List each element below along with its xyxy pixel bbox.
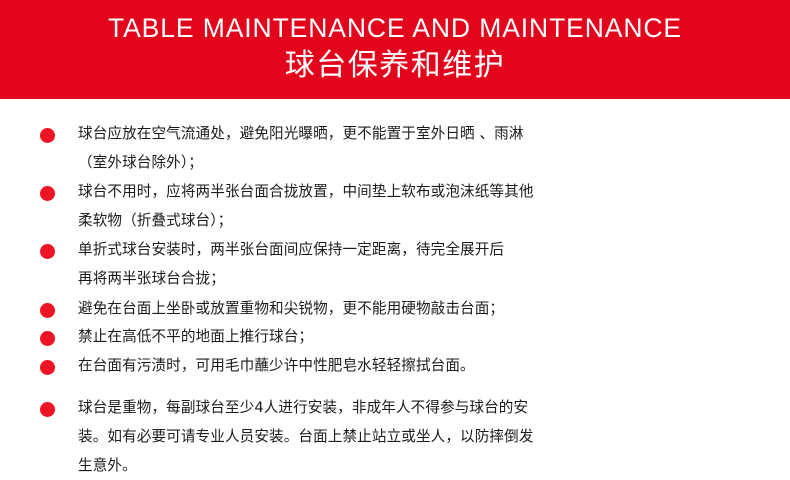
page-title-chinese: 球台保养和维护 — [285, 48, 506, 83]
list-item-text: 球台不用时，应将两半张台面合拢放置，中间垫上软布或泡沫纸等其他柔软物（折叠式球台… — [78, 178, 778, 235]
list-item: 在台面有污渍时，可用毛巾蘸少许中性肥皂水轻轻擦拭台面。 — [38, 352, 778, 381]
list-item-line: 球台不用时，应将两半张台面合拢放置，中间垫上软布或泡沫纸等其他 — [78, 178, 778, 207]
bullet-dot-icon — [40, 360, 55, 375]
list-item: 球台应放在空气流通处，避免阳光曝晒，更不能置于室外日晒 、雨淋（室外球台除外）； — [38, 120, 778, 177]
list-item-line: 禁止在高低不平的地面上推行球台； — [78, 323, 778, 352]
bullet-dot-icon — [40, 244, 55, 259]
list-item-line: 球台应放在空气流通处，避免阳光曝晒，更不能置于室外日晒 、雨淋 — [78, 120, 778, 149]
page-title-english: TABLE MAINTENANCE AND MAINTENANCE — [108, 13, 682, 44]
maintenance-info-page: TABLE MAINTENANCE AND MAINTENANCE 球台保养和维… — [0, 0, 790, 480]
bullet-dot-icon — [40, 331, 55, 346]
list-item-text: 避免在台面上坐卧或放置重物和尖锐物，更不能用硬物敲击台面； — [78, 295, 778, 324]
list-item: 球台不用时，应将两半张台面合拢放置，中间垫上软布或泡沫纸等其他柔软物（折叠式球台… — [38, 178, 778, 235]
bullet-dot-icon — [40, 303, 55, 318]
bullet-dot-icon — [40, 186, 55, 201]
list-item-text: 球台应放在空气流通处，避免阳光曝晒，更不能置于室外日晒 、雨淋（室外球台除外）； — [78, 120, 778, 177]
maintenance-list: 球台应放在空气流通处，避免阳光曝晒，更不能置于室外日晒 、雨淋（室外球台除外）；… — [0, 99, 790, 480]
list-item: 避免在台面上坐卧或放置重物和尖锐物，更不能用硬物敲击台面； — [38, 295, 778, 324]
list-item: 球台是重物，每副球台至少4人进行安装，非成年人不得参与球台的安装。如有必要可请专… — [38, 394, 778, 480]
header-banner: TABLE MAINTENANCE AND MAINTENANCE 球台保养和维… — [0, 0, 790, 99]
list-item-line: （室外球台除外）； — [78, 149, 778, 178]
list-item-line: 装。如有必要可请专业人员安装。台面上禁止站立或坐人，以防摔倒发 — [78, 423, 778, 452]
list-item-line: 避免在台面上坐卧或放置重物和尖锐物，更不能用硬物敲击台面； — [78, 295, 778, 324]
list-item-text: 单折式球台安装时，两半张台面间应保持一定距离，待完全展开后再将两半张球台合拢； — [78, 236, 778, 293]
list-item-text: 禁止在高低不平的地面上推行球台； — [78, 323, 778, 352]
list-item-text: 球台是重物，每副球台至少4人进行安装，非成年人不得参与球台的安装。如有必要可请专… — [78, 394, 778, 480]
bullet-dot-icon — [40, 128, 55, 143]
list-item-text: 在台面有污渍时，可用毛巾蘸少许中性肥皂水轻轻擦拭台面。 — [78, 352, 778, 381]
list-item-line: 在台面有污渍时，可用毛巾蘸少许中性肥皂水轻轻擦拭台面。 — [78, 352, 778, 381]
bullet-dot-icon — [40, 402, 55, 417]
list-item-line: 生意外。 — [78, 452, 778, 480]
list-item-line: 柔软物（折叠式球台）； — [78, 207, 778, 236]
list-item-line: 再将两半张球台合拢； — [78, 265, 778, 294]
list-item: 禁止在高低不平的地面上推行球台； — [38, 323, 778, 352]
list-item-line: 球台是重物，每副球台至少4人进行安装，非成年人不得参与球台的安 — [78, 394, 778, 423]
list-item: 单折式球台安装时，两半张台面间应保持一定距离，待完全展开后再将两半张球台合拢； — [38, 236, 778, 293]
list-item-line: 单折式球台安装时，两半张台面间应保持一定距离，待完全展开后 — [78, 236, 778, 265]
